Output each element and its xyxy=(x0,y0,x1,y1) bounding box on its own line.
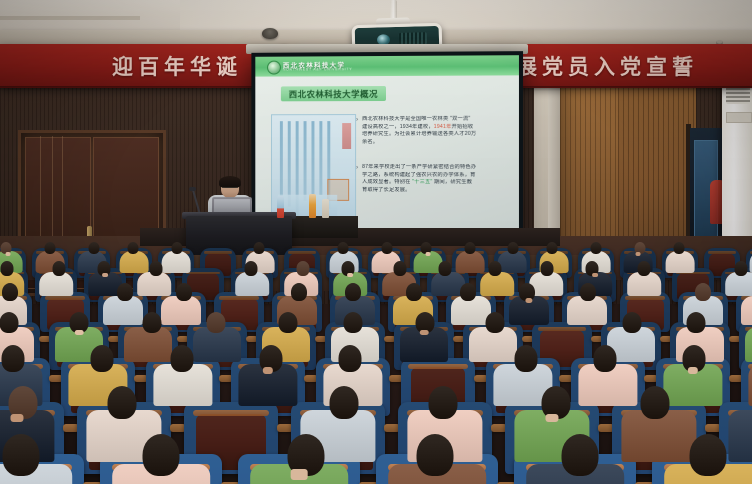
presentation-slide: 西北农林科技大学 NORTHWEST A&F UNIVERSITY 西北农林科技… xyxy=(255,55,519,231)
audience-member-head xyxy=(429,386,458,419)
audience-member-head xyxy=(381,242,392,255)
slide-bullet-line: 建设高校之一，1934年建校，1941年开始招收 xyxy=(362,123,511,131)
audience-member-head xyxy=(641,386,670,419)
audience-member-head xyxy=(206,312,225,334)
audience-member-head xyxy=(735,261,748,276)
audience-member-neck xyxy=(263,367,273,374)
audience-member-head xyxy=(337,242,348,255)
audience-member-neck xyxy=(592,273,598,277)
audience-member-head xyxy=(89,242,100,255)
audience-member-neck xyxy=(545,414,558,423)
audience-member xyxy=(35,261,77,308)
banner-text-right: 展党员入党宣誓 xyxy=(516,44,698,88)
audience-member-neck xyxy=(10,414,23,423)
audience-member-head xyxy=(687,312,706,334)
audience-member-head xyxy=(439,261,452,276)
slide-bullet-line: 培养研究生。为社会累计培养输送各类人才20万 xyxy=(362,131,511,139)
audience-member-head xyxy=(339,345,362,371)
audience-member-head xyxy=(1,261,14,276)
glasses-icon xyxy=(222,187,238,192)
audience-member-head xyxy=(143,434,180,476)
audience-member-head xyxy=(591,242,602,255)
audience-member-head xyxy=(594,345,617,371)
audience-member-head xyxy=(546,242,557,255)
seat-piping xyxy=(288,251,317,253)
audience-member-head xyxy=(176,283,192,301)
audience-member-neck xyxy=(688,367,698,374)
audience-member-head xyxy=(460,283,476,301)
auditorium-photo: 迎百年华诞 为俊 展党员入党宣誓 西北农林科技大学 NORTHWEST A&F … xyxy=(0,0,752,484)
audience-member-head xyxy=(690,434,727,476)
audience-member xyxy=(514,434,636,484)
audience-member-head xyxy=(514,345,537,371)
audience-member-neck xyxy=(636,252,641,255)
audience-member-head xyxy=(416,434,453,476)
audience-member-head xyxy=(149,261,162,276)
audience-member-head xyxy=(695,283,711,301)
audience-member-neck xyxy=(75,330,84,336)
audience-member-head xyxy=(172,242,183,255)
audience-member-head xyxy=(45,242,56,255)
audience-member-head xyxy=(507,242,518,255)
seat-piping xyxy=(204,251,233,253)
slide-bullet: › 87年来学校走出了一条产学研紧密结合的特色办学之路，系统构建起了强农兴农的办… xyxy=(362,164,511,195)
audience-member-head xyxy=(170,345,193,371)
audience-member-head xyxy=(638,261,651,276)
ceiling-soffit-groove xyxy=(0,16,140,20)
air-conditioner-panel[interactable] xyxy=(726,112,752,123)
slide-title: 西北农林科技大学概况 xyxy=(289,88,378,100)
audience-member-head xyxy=(2,345,25,371)
audience-member-head xyxy=(108,386,137,419)
audience-member-neck xyxy=(347,273,353,277)
water-bottle xyxy=(309,194,316,218)
audience-member-head xyxy=(2,434,39,476)
audience-member-head xyxy=(674,242,685,255)
audience-member xyxy=(376,434,498,484)
university-name-en: NORTHWEST A&F UNIVERSITY xyxy=(283,67,352,71)
audience-member-head xyxy=(142,312,161,334)
audience-member-neck xyxy=(420,330,429,336)
audience-member xyxy=(238,434,360,484)
water-bottle xyxy=(322,199,329,218)
audience-member-neck xyxy=(102,273,108,277)
audience-member-neck xyxy=(6,252,11,255)
audience-member-head xyxy=(465,242,476,255)
audience-member-head xyxy=(117,283,133,301)
audience-member-head xyxy=(52,261,65,276)
audience-member-head xyxy=(291,283,307,301)
audience-member-head xyxy=(345,283,361,301)
audience-member xyxy=(0,434,84,484)
audience-member xyxy=(623,261,665,308)
slide-bullet-line: 人成效显著。特别在 "十三五" 期间，研究生教 xyxy=(362,179,511,187)
document-seal xyxy=(342,123,351,149)
audience-member-neck xyxy=(291,469,308,480)
audience-member-head xyxy=(329,386,358,419)
audience-member xyxy=(100,434,222,484)
audience-member-head xyxy=(406,283,422,301)
water-bottle xyxy=(277,196,284,218)
audience-member-head xyxy=(279,312,298,334)
ceiling-speaker-icon xyxy=(262,28,278,39)
audience-member-head xyxy=(91,345,114,371)
laptop-screen xyxy=(214,199,250,213)
audience-member-head xyxy=(2,283,18,301)
audience-member-neck xyxy=(525,298,532,303)
audience-member-head xyxy=(623,312,642,334)
slide-title-banner: 西北农林科技大学概况 xyxy=(281,86,386,101)
slide-bullet: › 西北农林科技大学是全国唯一农林类 "双一流"建设高校之一，1934年建校，1… xyxy=(362,116,511,147)
audience-member xyxy=(662,242,698,283)
audience-member-head xyxy=(296,261,309,276)
audience-member-head xyxy=(486,312,505,334)
audience-member-head xyxy=(489,261,502,276)
seat-piping xyxy=(708,251,737,253)
audience-member-neck xyxy=(426,252,431,255)
bullet-marker-icon: › xyxy=(356,165,358,171)
audience-member-head xyxy=(254,242,265,255)
audience-seating xyxy=(0,244,752,484)
slide-bullet-line: 余名。 xyxy=(362,139,511,147)
slide-bullet-line: 87年来学校走出了一条产学研紧密结合的特色办 xyxy=(362,164,511,172)
audience-member-head xyxy=(393,261,406,276)
audience-member-head xyxy=(561,434,598,476)
audience-member-head xyxy=(580,283,596,301)
audience-member xyxy=(394,312,454,379)
slide-bullet-line: 育取得了长足发展。 xyxy=(362,187,511,195)
university-logo-icon xyxy=(267,61,281,75)
audience-member-head xyxy=(540,261,553,276)
audience-member-head xyxy=(343,312,362,334)
audience-member xyxy=(231,261,273,308)
audience-member-head xyxy=(128,242,139,255)
audience-member xyxy=(652,434,752,484)
audience-member-head xyxy=(245,261,258,276)
bullet-marker-icon: › xyxy=(356,117,358,123)
audience-member-head xyxy=(0,312,18,334)
microphone-icon xyxy=(189,187,196,191)
